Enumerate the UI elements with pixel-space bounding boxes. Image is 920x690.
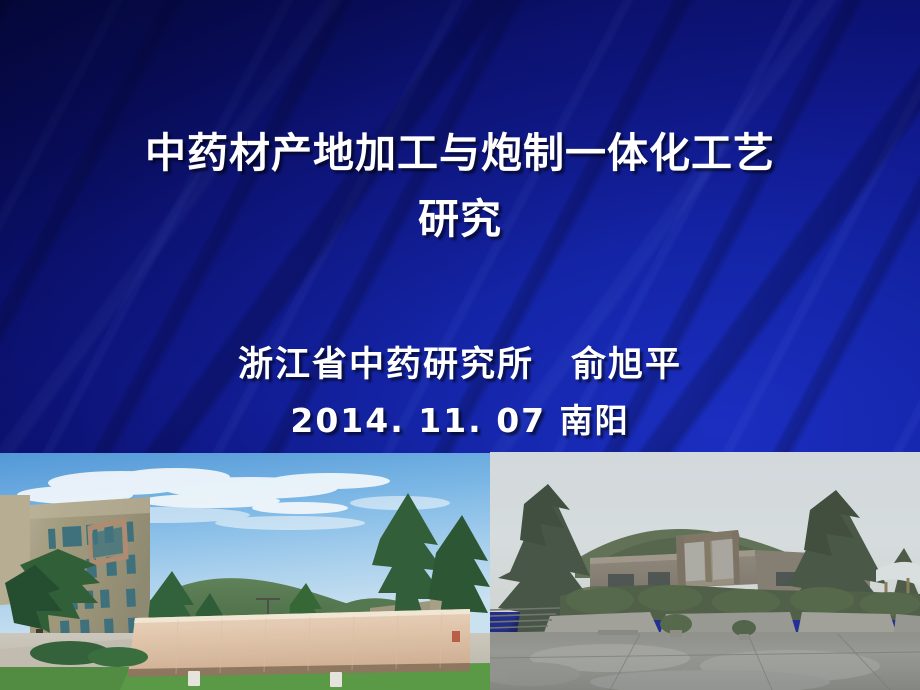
slide-date-location: 2014. 11. 07 南阳 — [40, 398, 880, 444]
photo-institute-building: 浙江省中药研究所有限公司 — [0, 453, 490, 690]
slide-title: 中药材产地加工与炮制一体化工艺 研究 — [40, 120, 880, 252]
photo-institute-courtyard-graphic — [490, 452, 920, 690]
photo-institute-building-graphic — [0, 453, 490, 690]
photo-institute-courtyard — [490, 452, 920, 690]
presentation-slide: 中药材产地加工与炮制一体化工艺 研究 浙江省中药研究所 俞旭平 2014. 11… — [0, 0, 920, 690]
slide-author-line: 浙江省中药研究所 俞旭平 — [40, 340, 880, 390]
